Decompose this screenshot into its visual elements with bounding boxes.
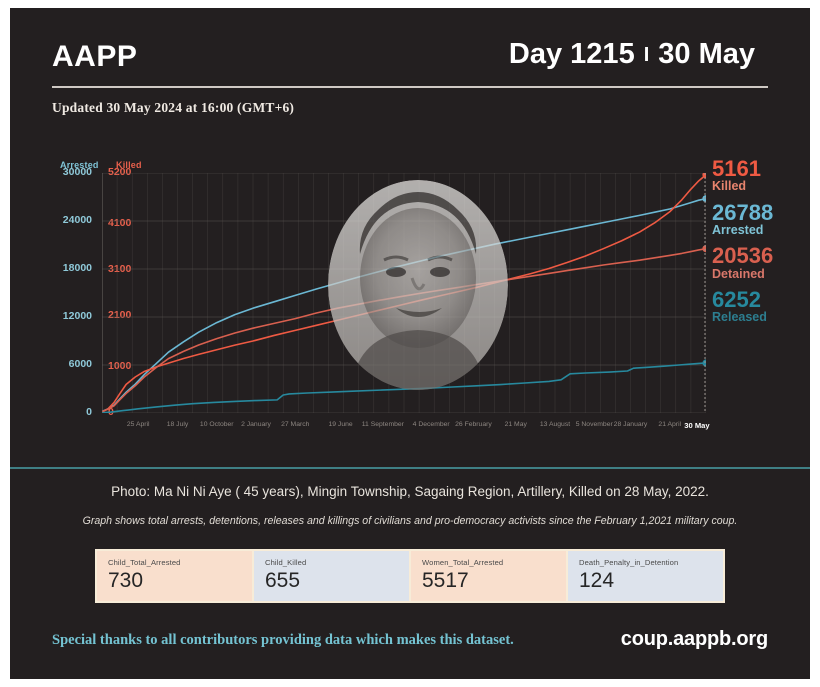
section-divider bbox=[10, 467, 810, 469]
title-separator: I bbox=[644, 44, 650, 67]
summary-arrested-value: 26788 bbox=[712, 202, 810, 224]
stat-card-key: Child_Killed bbox=[265, 558, 400, 567]
updated-timestamp: Updated 30 May 2024 at 16:00 (GMT+6) bbox=[52, 100, 294, 116]
stat-card-value: 5517 bbox=[422, 570, 557, 591]
x-tick-label: 11 September bbox=[362, 421, 404, 428]
summary-detained: 20536 Detained bbox=[712, 245, 810, 281]
brand-title: AAPP bbox=[52, 40, 137, 74]
y-tick-arrested: 0 bbox=[44, 406, 92, 418]
summary-detained-caption: Detained bbox=[712, 268, 810, 281]
x-tick-label: 10 October bbox=[200, 421, 234, 428]
x-tick-label: 25 April bbox=[127, 421, 150, 428]
header-divider bbox=[52, 86, 768, 88]
summary-released-caption: Released bbox=[712, 311, 810, 324]
x-tick-label: 21 April bbox=[658, 421, 681, 428]
y-tick-arrested: 6000 bbox=[44, 358, 92, 370]
thanks-text: Special thanks to all contributors provi… bbox=[52, 632, 514, 649]
x-tick-label: 4 December bbox=[413, 421, 450, 428]
x-tick-label: 5 November bbox=[576, 421, 613, 428]
y-tick-arrested: 18000 bbox=[44, 262, 92, 274]
x-tick-label: 28 January bbox=[614, 421, 648, 428]
stat-card-key: Child_Total_Arrested bbox=[108, 558, 243, 567]
summary-arrested: 26788 Arrested bbox=[712, 202, 810, 238]
x-tick-label: 19 June bbox=[328, 421, 352, 428]
stat-card-value: 124 bbox=[579, 570, 714, 591]
summary-released: 6252 Released bbox=[712, 289, 810, 325]
poster-frame: AAPP Day 1215 I 30 May Updated 30 May 20… bbox=[10, 8, 810, 679]
website-url: coup.aappb.org bbox=[621, 628, 768, 651]
stat-card: Women_Total_Arrested5517 bbox=[411, 551, 566, 601]
stat-card-key: Women_Total_Arrested bbox=[422, 558, 557, 567]
x-tick-label: 18 July bbox=[167, 421, 189, 428]
summary-arrested-caption: Arrested bbox=[712, 224, 810, 237]
stat-card-value: 655 bbox=[265, 570, 400, 591]
x-tick-label: 30 May bbox=[684, 421, 709, 430]
x-tick-label: 13 August bbox=[540, 421, 570, 428]
summary-killed: 5161 Killed bbox=[712, 158, 810, 194]
graph-note: Graph shows total arrests, detentions, r… bbox=[10, 515, 810, 527]
stat-card: Child_Total_Arrested730 bbox=[97, 551, 252, 601]
x-tick-label: 27 March bbox=[281, 421, 309, 428]
x-tick-label: 2 January bbox=[241, 421, 271, 428]
y-tick-arrested: 24000 bbox=[44, 214, 92, 226]
summary-killed-value: 5161 bbox=[712, 158, 810, 180]
x-tick-label: 26 February bbox=[455, 421, 492, 428]
stat-card: Death_Penalty_in_Detention124 bbox=[568, 551, 723, 601]
summary-released-value: 6252 bbox=[712, 289, 810, 311]
plot-svg bbox=[102, 173, 706, 413]
chart: Arrested Killed 060001200018000240003000… bbox=[10, 148, 810, 448]
summary-values: 5161 Killed 26788 Arrested 20536 Detaine… bbox=[712, 158, 810, 326]
x-tick-label: 21 May bbox=[505, 421, 527, 428]
infographic-poster: AAPP Day 1215 I 30 May Updated 30 May 20… bbox=[0, 0, 820, 687]
photo-caption: Photo: Ma Ni Ni Aye ( 45 years), Mingin … bbox=[10, 484, 810, 499]
stat-card: Child_Killed655 bbox=[254, 551, 409, 601]
stat-card-key: Death_Penalty_in_Detention bbox=[579, 558, 714, 567]
gridlines bbox=[102, 173, 706, 413]
stat-card-value: 730 bbox=[108, 570, 243, 591]
header: AAPP Day 1215 I 30 May Updated 30 May 20… bbox=[10, 8, 810, 98]
summary-detained-value: 20536 bbox=[712, 245, 810, 267]
summary-killed-caption: Killed bbox=[712, 180, 810, 193]
date-label: 30 May bbox=[658, 38, 755, 71]
plot-area bbox=[102, 173, 706, 413]
stat-cards: Child_Total_Arrested730Child_Killed655Wo… bbox=[95, 549, 725, 603]
y-tick-arrested: 30000 bbox=[44, 166, 92, 178]
y-tick-arrested: 12000 bbox=[44, 310, 92, 322]
day-date-title: Day 1215 I 30 May bbox=[509, 38, 755, 71]
day-count-label: Day 1215 bbox=[509, 38, 635, 71]
